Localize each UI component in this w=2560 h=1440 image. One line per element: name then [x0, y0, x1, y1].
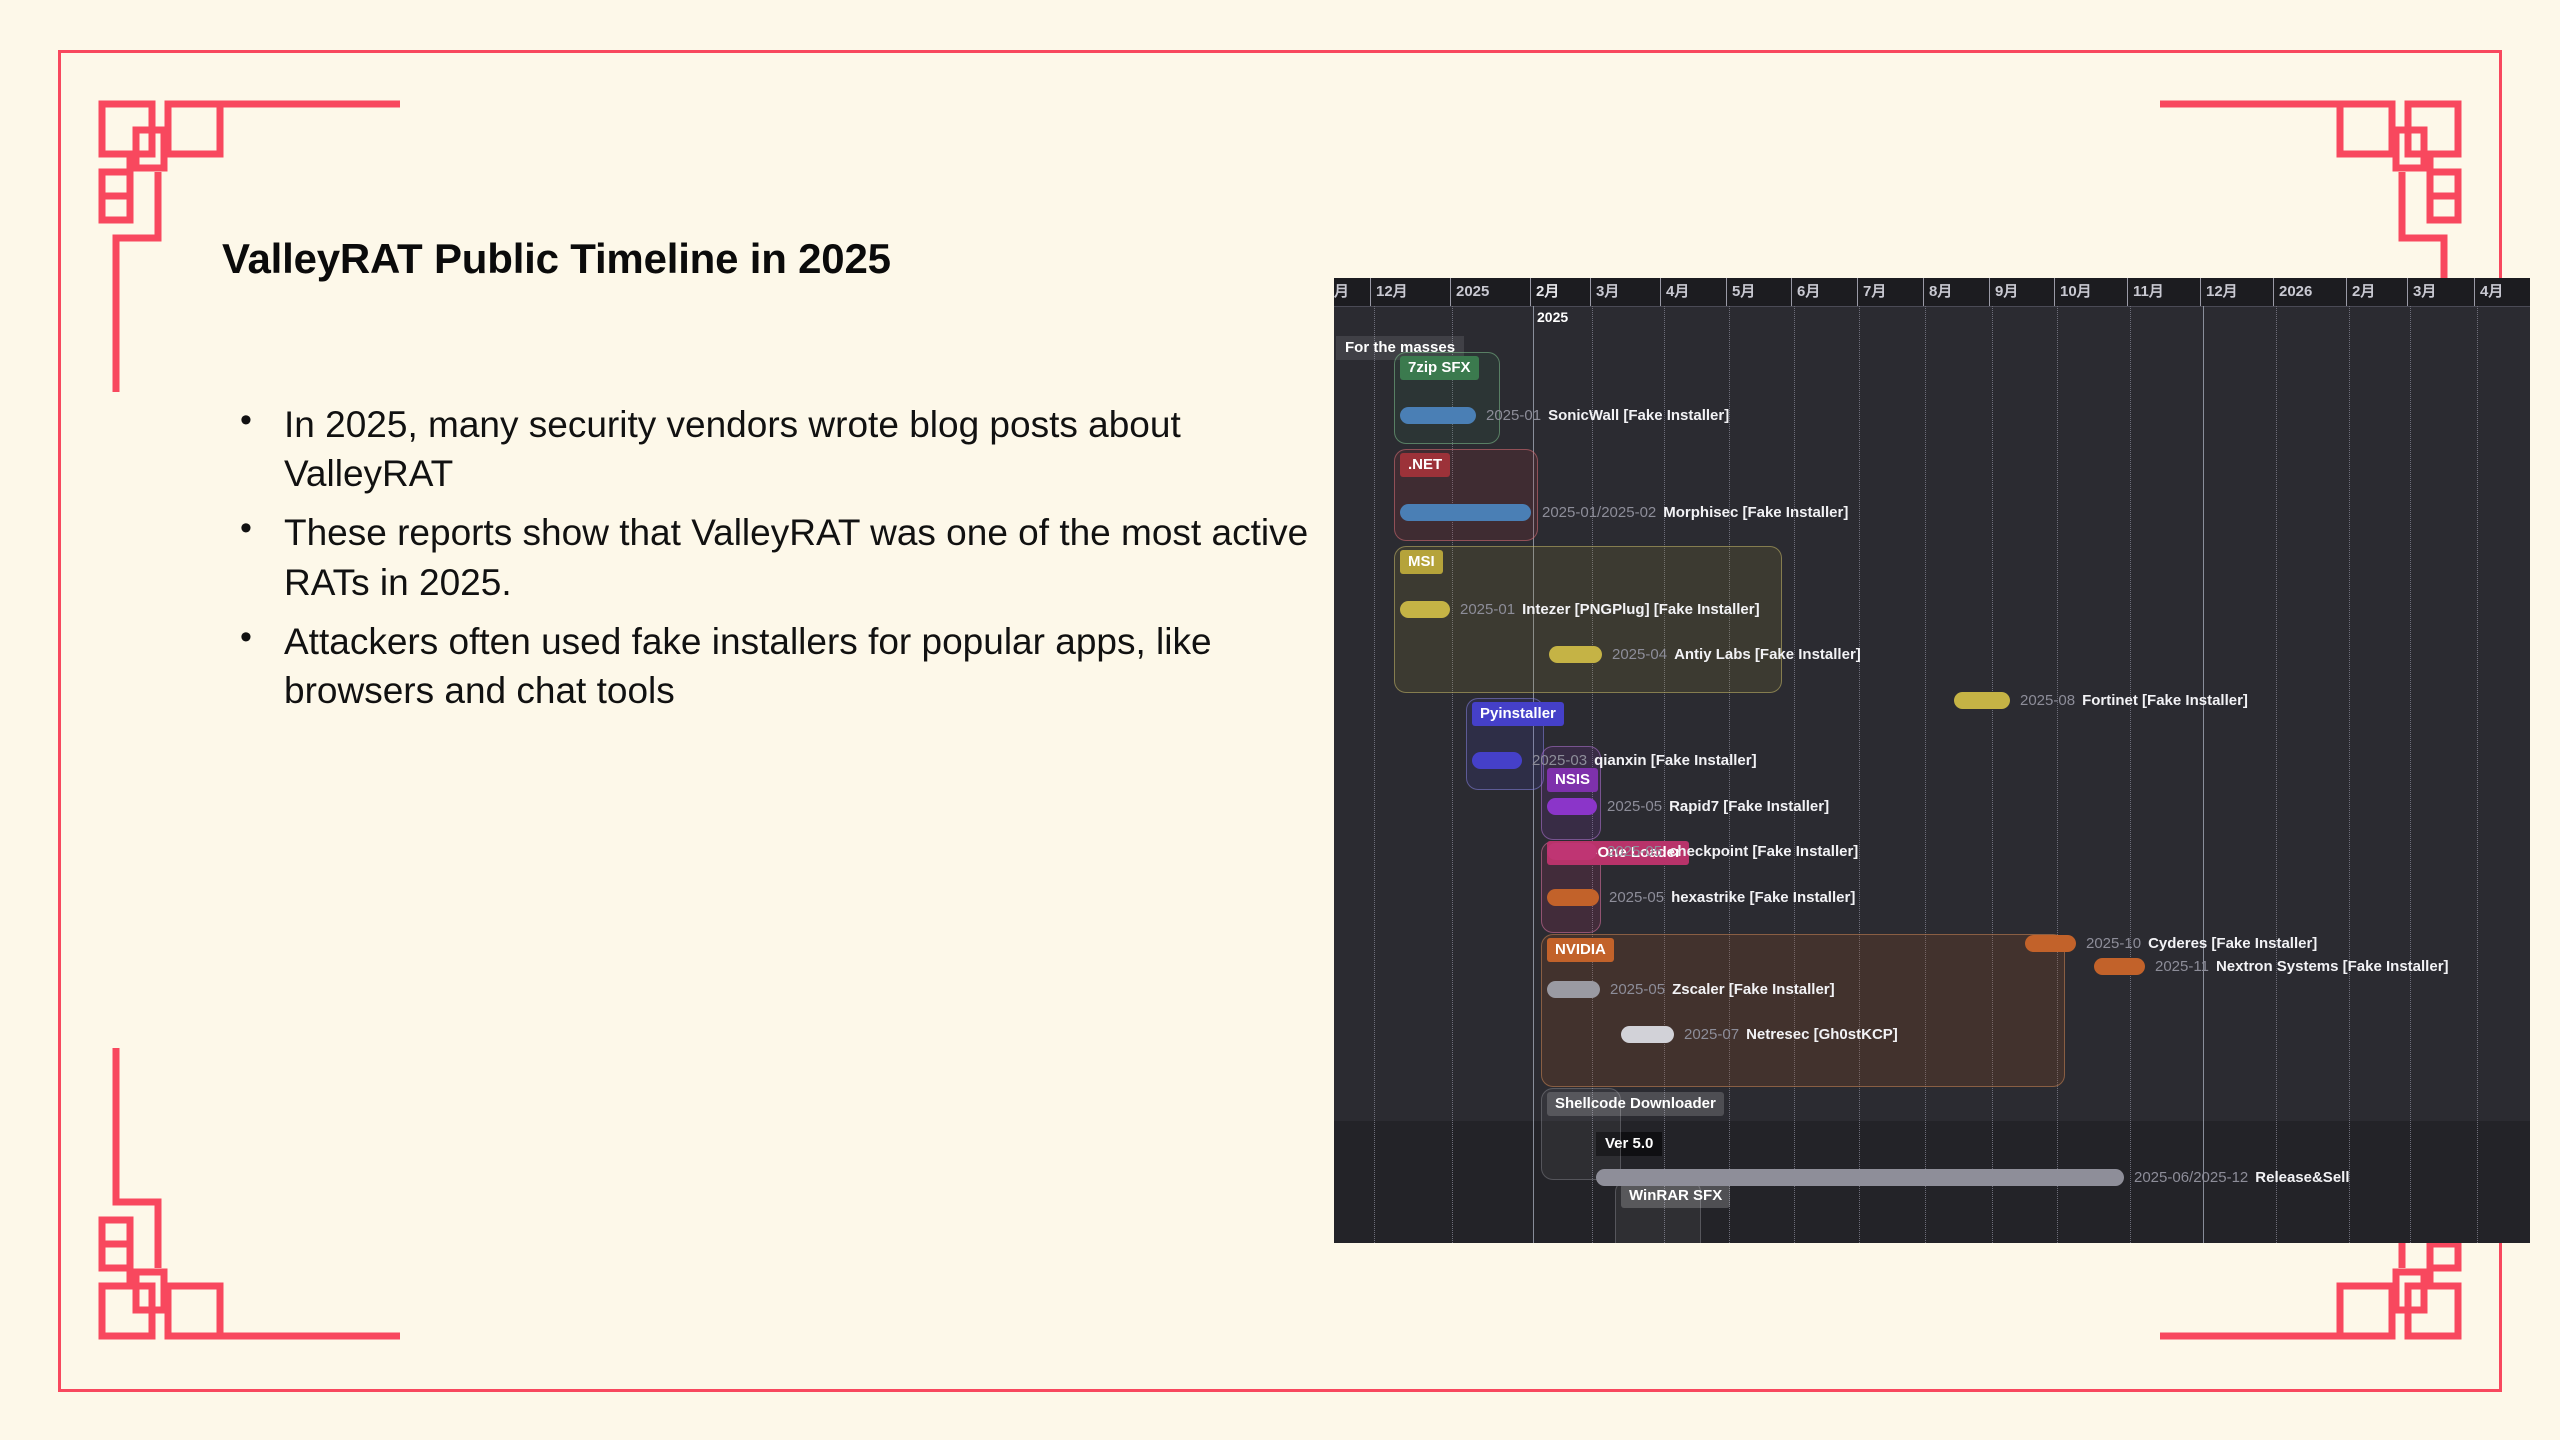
timeline-event-name: checkpoint [Fake Installer] [1669, 843, 1858, 860]
timeline-event-bar[interactable] [1400, 407, 1476, 424]
timeline-event-name: qianxin [Fake Installer] [1594, 752, 1757, 769]
timeline-event-bar[interactable] [1472, 752, 1522, 769]
timeline-event-date: 2025-05 [1610, 981, 1665, 998]
timeline-event-name: Rapid7 [Fake Installer] [1669, 798, 1829, 815]
timeline-gridline [1794, 306, 1795, 1243]
timeline-event-bar[interactable] [1954, 692, 2010, 709]
timeline-group-tag[interactable]: MSI [1400, 550, 1443, 574]
timeline-axis-tick: 3月 [2407, 278, 2436, 306]
timeline-event-label: 2025-11Nextron Systems [Fake Installer] [2155, 958, 2449, 975]
timeline-gridline [1729, 306, 1730, 1243]
timeline-axis-tick: 11月 [2127, 278, 2164, 306]
timeline-gridline [1859, 306, 1860, 1243]
timeline-event-date: 2025-04 [1612, 646, 1667, 663]
timeline-axis-tick: 2026 [2273, 278, 2312, 306]
timeline-event-bar[interactable] [1547, 889, 1599, 906]
timeline-group-box [1541, 934, 2065, 1087]
timeline-event-name: Cyderes [Fake Installer] [2148, 935, 2317, 952]
timeline-event-bar[interactable] [1400, 601, 1450, 618]
timeline-event-name: Morphisec [Fake Installer] [1663, 504, 1848, 521]
bullet-item: These reports show that ValleyRAT was on… [222, 508, 1312, 606]
timeline-gridline [1452, 306, 1453, 1243]
timeline-axis-tick: 2月 [2346, 278, 2375, 306]
timeline-event-label: 2025-06/2025-12Release&Sell [2134, 1169, 2350, 1186]
timeline-event-bar[interactable] [2025, 935, 2076, 952]
timeline-event-date: 2025-01 [1486, 407, 1541, 424]
bullet-list: In 2025, many security vendors wrote blo… [222, 400, 1312, 725]
timeline-event-label: 2025-05hexastrike [Fake Installer] [1609, 889, 1855, 906]
timeline-group-box [1394, 546, 1782, 693]
timeline-axis-tick: 2月 [1530, 278, 1559, 306]
timeline-group-tag[interactable]: 7zip SFX [1400, 356, 1479, 380]
timeline-event-label: 2025-05Zscaler [Fake Installer] [1610, 981, 1835, 998]
timeline-event-label: 2025-03qianxin [Fake Installer] [1532, 752, 1757, 769]
timeline-gridline [2276, 306, 2277, 1243]
timeline-axis-tick: 4月 [2474, 278, 2503, 306]
timeline-event-date: 2025-01/2025-02 [1542, 504, 1656, 521]
timeline-axis-tick: 12月 [1370, 278, 1408, 306]
timeline-event-bar[interactable] [1547, 798, 1597, 815]
timeline-event-date: 2025-05 [1609, 889, 1664, 906]
timeline-event-name: Nextron Systems [Fake Installer] [2216, 958, 2449, 975]
timeline-group-tag[interactable]: NVIDIA [1547, 938, 1614, 962]
timeline-event-date: 2025-07 [1684, 1026, 1739, 1043]
timeline-event-name: Netresec [Gh0stKCP] [1746, 1026, 1898, 1043]
timeline-event-label: 2025-08Fortinet [Fake Installer] [2020, 692, 2248, 709]
timeline-event-name: Intezer [PNGPlug] [Fake Installer] [1522, 601, 1760, 618]
timeline-axis-tick: 12月 [2200, 278, 2238, 306]
timeline-group-tag[interactable]: Pyinstaller [1472, 702, 1564, 726]
timeline-axis-tick: 3月 [1590, 278, 1619, 306]
timeline-event-label: 2025-01SonicWall [Fake Installer] [1486, 407, 1729, 424]
timeline-event-bar[interactable] [1596, 1169, 2124, 1186]
timeline-event-bar[interactable] [1400, 504, 1531, 521]
timeline-event-label: 2025-07Netresec [Gh0stKCP] [1684, 1026, 1898, 1043]
timeline-axis-tick: 7月 [1857, 278, 1886, 306]
timeline-event-label: 2025-01Intezer [PNGPlug] [Fake Installer… [1460, 601, 1760, 618]
timeline-top-rule [1334, 306, 2530, 307]
timeline-gridline [2130, 306, 2131, 1243]
timeline-event-date: 2025-08 [2020, 692, 2075, 709]
timeline-event-bar[interactable] [1549, 646, 1602, 663]
timeline-group-tag[interactable]: Shellcode Downloader [1547, 1092, 1724, 1116]
timeline-event-bar[interactable] [1621, 1026, 1674, 1043]
timeline-event-label: 2025-04Antiy Labs [Fake Installer] [1612, 646, 1861, 663]
timeline-event-bar[interactable] [2094, 958, 2145, 975]
timeline-event-date: 2025-06/2025-12 [2134, 1169, 2248, 1186]
timeline-axis-tick: 4月 [1660, 278, 1689, 306]
timeline-gridline [2349, 306, 2350, 1243]
timeline-gridline [2203, 306, 2204, 1243]
timeline-event-name: Release&Sell [2255, 1169, 2349, 1186]
timeline-axis-tick: 8月 [1923, 278, 1952, 306]
bullet-item: Attackers often used fake installers for… [222, 617, 1312, 715]
timeline-event-label: 2025-05checkpoint [Fake Installer] [1607, 843, 1858, 860]
timeline-axis-tick: 10月 [2054, 278, 2092, 306]
timeline-event-name: Zscaler [Fake Installer] [1672, 981, 1835, 998]
timeline-event-label: 2025-01/2025-02Morphisec [Fake Installer… [1542, 504, 1848, 521]
timeline-event-bar[interactable] [1547, 981, 1600, 998]
timeline-gridline [1925, 306, 1926, 1243]
timeline-event-date: 2025-03 [1532, 752, 1587, 769]
timeline-event-bar[interactable] [1547, 843, 1597, 860]
timeline-event-date: 2025-10 [2086, 935, 2141, 952]
timeline-axis-tick: 月 [1334, 278, 1349, 306]
timeline-gridline [1374, 306, 1375, 1243]
timeline-grid: 2025For the massesVer 5.07zip SFX.NETMSI… [1334, 306, 2530, 1243]
page-title: ValleyRAT Public Timeline in 2025 [222, 235, 891, 283]
timeline-event-date: 2025-01 [1460, 601, 1515, 618]
timeline-event-name: hexastrike [Fake Installer] [1671, 889, 1855, 906]
timeline-group-tag[interactable]: WinRAR SFX [1621, 1184, 1730, 1208]
timeline-event-date: 2025-05 [1607, 798, 1662, 815]
timeline-event-date: 2025-11 [2155, 958, 2209, 975]
timeline-event-name: Antiy Labs [Fake Installer] [1674, 646, 1861, 663]
timeline-event-label: 2025-10Cyderes [Fake Installer] [2086, 935, 2317, 952]
timeline-group-tag[interactable]: .NET [1400, 453, 1450, 477]
timeline-axis-tick: 9月 [1989, 278, 2018, 306]
timeline-gridline [2057, 306, 2058, 1243]
timeline-event-name: SonicWall [Fake Installer] [1548, 407, 1729, 424]
timeline-gridline [1992, 306, 1993, 1243]
timeline-event-label: 2025-05Rapid7 [Fake Installer] [1607, 798, 1829, 815]
timeline-group-tag[interactable]: NSIS [1547, 768, 1598, 792]
timeline-gridline [2410, 306, 2411, 1243]
timeline-panel: 月12月20252月3月4月5月6月7月8月9月10月11月12月20262月3… [1334, 278, 2530, 1243]
timeline-header-axis: 月12月20252月3月4月5月6月7月8月9月10月11月12月20262月3… [1334, 278, 2530, 307]
timeline-gridline [2477, 306, 2478, 1243]
timeline-event-name: Fortinet [Fake Installer] [2082, 692, 2248, 709]
timeline-axis-tick: 5月 [1726, 278, 1755, 306]
timeline-year-marker: 2025 [1537, 310, 1568, 324]
bullet-item: In 2025, many security vendors wrote blo… [222, 400, 1312, 498]
timeline-event-date: 2025-05 [1607, 843, 1662, 860]
timeline-axis-tick: 2025 [1450, 278, 1489, 306]
timeline-axis-tick: 6月 [1791, 278, 1820, 306]
